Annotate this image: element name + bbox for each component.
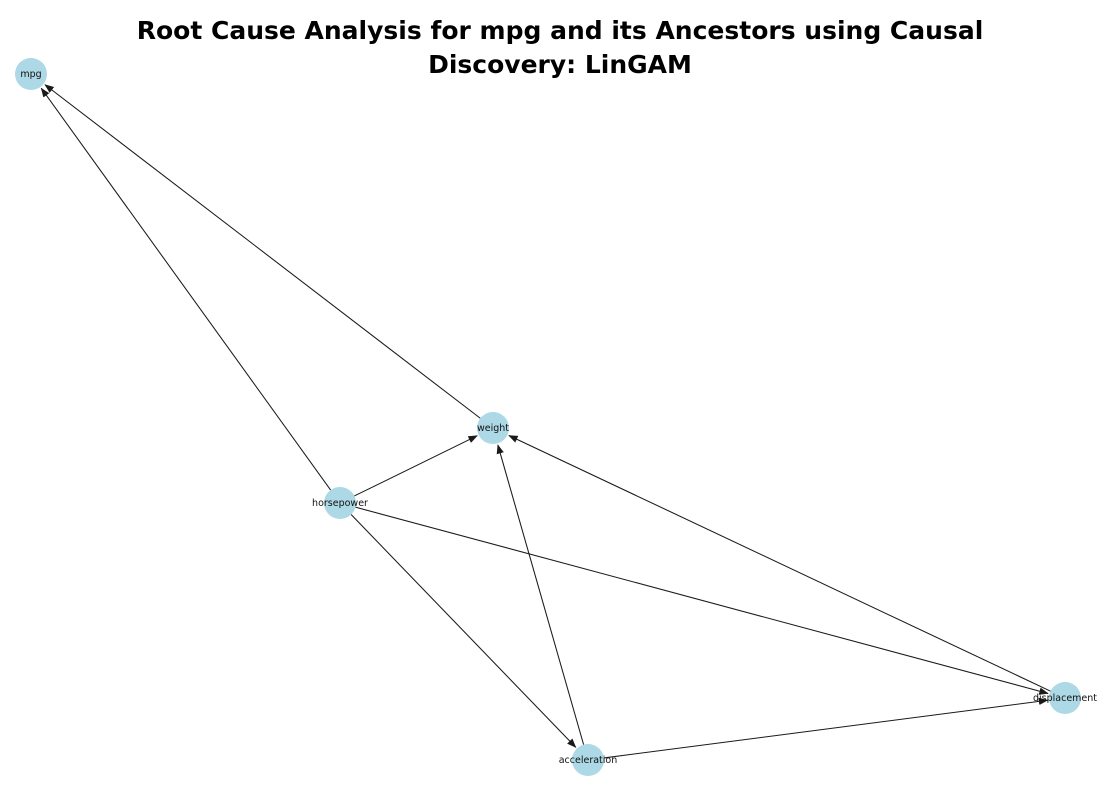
edges-layer [41, 85, 1050, 758]
edge-horsepower-to-displacement [355, 507, 1048, 693]
node-label-horsepower: horsepower [312, 498, 368, 509]
node-label-acceleration: acceleration [559, 755, 618, 766]
edge-horsepower-to-acceleration [351, 515, 576, 748]
edge-horsepower-to-weight [354, 436, 477, 496]
edge-displacement-to-weight [509, 435, 1051, 691]
graph-node-acceleration[interactable]: acceleration [559, 744, 618, 776]
graph-node-weight[interactable]: weight [477, 412, 509, 444]
node-label-weight: weight [477, 423, 509, 434]
node-label-mpg: mpg [20, 69, 41, 80]
edge-horsepower-to-mpg [41, 88, 330, 490]
causal-graph-page: Root Cause Analysis for mpg and its Ance… [0, 0, 1120, 791]
node-label-displacement: displacement [1033, 693, 1097, 704]
edge-acceleration-to-weight [498, 445, 584, 745]
causal-graph-canvas: mpgweighthorsepoweraccelerationdisplacem… [0, 0, 1120, 791]
graph-node-displacement[interactable]: displacement [1033, 682, 1097, 714]
nodes-layer: mpgweighthorsepoweraccelerationdisplacem… [15, 58, 1097, 776]
edge-acceleration-to-displacement [604, 700, 1048, 758]
graph-node-mpg[interactable]: mpg [15, 58, 47, 90]
edge-weight-to-mpg [45, 85, 480, 419]
graph-node-horsepower[interactable]: horsepower [312, 487, 368, 519]
